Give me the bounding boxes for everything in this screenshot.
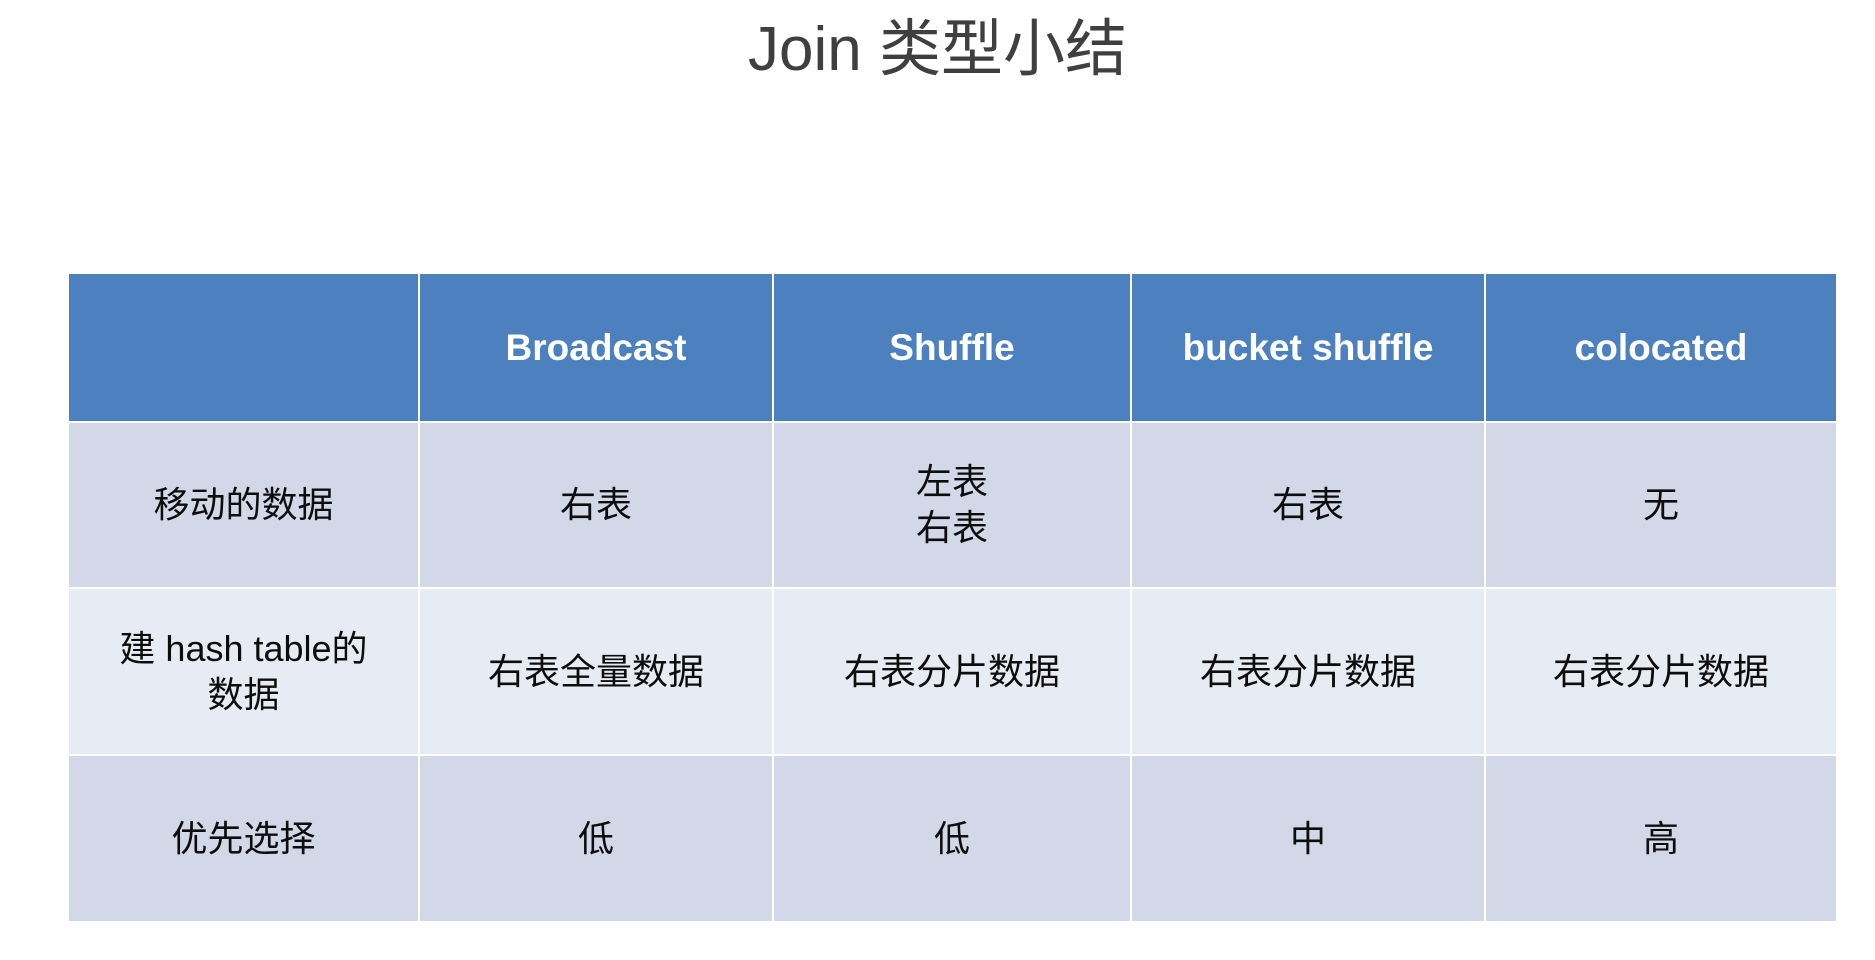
cell-line: 右表分片数据 — [782, 649, 1122, 695]
slide: Join 类型小结 Broadcast Shuffle bucket shuff… — [0, 0, 1875, 960]
table-header-cell-bucket-shuffle: bucket shuffle — [1131, 273, 1485, 422]
cell-hash-table-data-broadcast: 右表全量数据 — [419, 588, 773, 755]
table-row: 优先选择 低 低 中 — [68, 755, 1837, 922]
cell-priority-colocated: 高 — [1485, 755, 1837, 922]
cell-line: 左表 — [782, 459, 1122, 505]
cell-line: 高 — [1494, 816, 1828, 862]
cell-line: 低 — [428, 816, 764, 862]
cell-line: 移动的数据 — [77, 482, 410, 528]
cell-priority-broadcast: 低 — [419, 755, 773, 922]
table-row: 移动的数据 右表 左表 右表 — [68, 422, 1837, 588]
cell-line: 右表 — [1140, 482, 1476, 528]
cell-line: 右表 — [782, 505, 1122, 551]
join-type-summary-table: Broadcast Shuffle bucket shuffle colocat… — [67, 272, 1838, 923]
cell-line: 右表全量数据 — [428, 649, 764, 695]
cell-line: 优先选择 — [77, 816, 410, 862]
join-type-summary-table-wrapper: Broadcast Shuffle bucket shuffle colocat… — [67, 272, 1836, 913]
table-body: 移动的数据 右表 左表 右表 — [68, 422, 1837, 922]
page-title: Join 类型小结 — [0, 2, 1875, 98]
cell-moved-data-bucket-shuffle: 右表 — [1131, 422, 1485, 588]
cell-hash-table-data-colocated: 右表分片数据 — [1485, 588, 1837, 755]
cell-line: 右表分片数据 — [1140, 649, 1476, 695]
cell-priority-shuffle: 低 — [773, 755, 1131, 922]
cell-priority-bucket-shuffle: 中 — [1131, 755, 1485, 922]
table-row: 建 hash table的 数据 右表全量数据 右表分片数据 — [68, 588, 1837, 755]
cell-line: 数据 — [77, 672, 410, 718]
table-header-cell-corner — [68, 273, 419, 422]
table-header: Broadcast Shuffle bucket shuffle colocat… — [68, 273, 1837, 422]
cell-moved-data-broadcast: 右表 — [419, 422, 773, 588]
cell-line: 中 — [1140, 816, 1476, 862]
row-label-hash-table-data: 建 hash table的 数据 — [68, 588, 419, 755]
row-label-priority: 优先选择 — [68, 755, 419, 922]
cell-moved-data-shuffle: 左表 右表 — [773, 422, 1131, 588]
cell-hash-table-data-bucket-shuffle: 右表分片数据 — [1131, 588, 1485, 755]
table-header-cell-shuffle: Shuffle — [773, 273, 1131, 422]
table-header-cell-broadcast: Broadcast — [419, 273, 773, 422]
cell-line: 右表分片数据 — [1494, 649, 1828, 695]
cell-line: 低 — [782, 816, 1122, 862]
row-label-moved-data: 移动的数据 — [68, 422, 419, 588]
cell-line: 无 — [1494, 482, 1828, 528]
cell-moved-data-colocated: 无 — [1485, 422, 1837, 588]
cell-line: 建 hash table的 — [77, 626, 410, 672]
cell-hash-table-data-shuffle: 右表分片数据 — [773, 588, 1131, 755]
table-header-cell-colocated: colocated — [1485, 273, 1837, 422]
cell-line: 右表 — [428, 482, 764, 528]
table-header-row: Broadcast Shuffle bucket shuffle colocat… — [68, 273, 1837, 422]
